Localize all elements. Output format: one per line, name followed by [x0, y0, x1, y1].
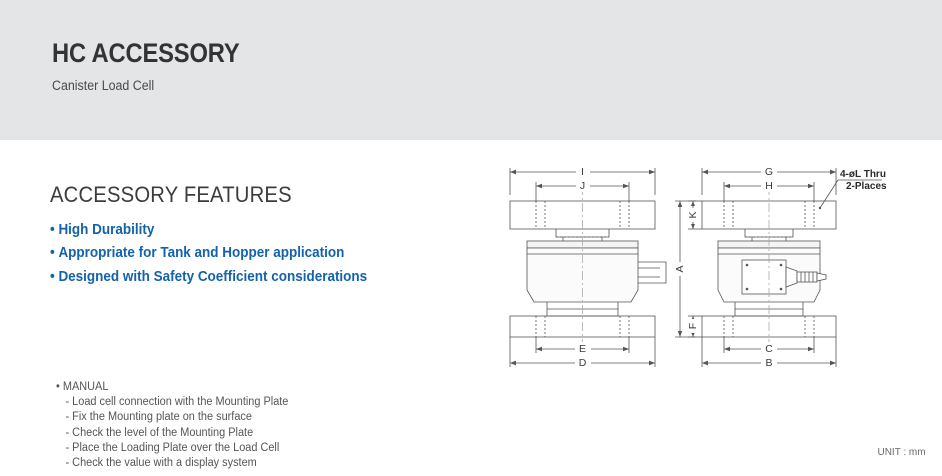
dim-label-A: A — [674, 265, 686, 272]
manual-step: - Check the level of the Mounting Plate — [56, 426, 288, 441]
technical-drawing: I J E D G H C B — [490, 150, 942, 476]
page-header: HC ACCESSORY Canister Load Cell — [0, 0, 942, 140]
dim-label-G: G — [765, 166, 773, 178]
dim-label-D: D — [579, 357, 587, 369]
drawing-canvas: I J E D G H C B — [490, 150, 942, 476]
feature-label: Designed with Safety Coefficient conside… — [58, 269, 367, 285]
callout-line-2: 2-Places — [846, 181, 887, 192]
manual-heading: • MANUAL — [56, 380, 288, 395]
manual-step: - Fix the Mounting plate on the surface — [56, 410, 288, 425]
manual-step: - Check the value with a display system — [56, 456, 288, 471]
feature-label: High Durability — [58, 222, 154, 238]
manual-step: - Place the Loading Plate over the Load … — [56, 441, 288, 456]
manual-section: • MANUAL - Load cell connection with the… — [56, 380, 301, 471]
side-view-geometry — [510, 168, 666, 367]
dim-label-I: I — [581, 166, 584, 178]
dim-label-K: K — [687, 211, 699, 218]
dim-label-H: H — [765, 180, 773, 192]
datasheet-page: HC ACCESSORY Canister Load Cell ACCESSOR… — [0, 0, 942, 476]
dim-label-F: F — [687, 323, 699, 329]
bullet-icon: • — [50, 245, 55, 261]
dim-label-J: J — [580, 180, 585, 192]
dim-label-C: C — [765, 343, 773, 355]
unit-label: UNIT : mm — [878, 446, 926, 458]
accessory-features-section: ACCESSORY FEATURES •High Durability •App… — [50, 182, 470, 289]
feature-label: Appropriate for Tank and Hopper applicat… — [58, 245, 344, 261]
bullet-icon: • — [50, 222, 55, 238]
dim-label-E: E — [579, 343, 586, 355]
manual-step: - Load cell connection with the Mounting… — [56, 395, 288, 410]
page-subtitle: Canister Load Cell — [52, 78, 154, 93]
features-heading: ACCESSORY FEATURES — [50, 182, 436, 208]
feature-list-item: •Appropriate for Tank and Hopper applica… — [50, 242, 441, 265]
front-view-geometry — [675, 168, 882, 367]
bullet-icon: • — [50, 269, 55, 285]
feature-list-item: •High Durability — [50, 219, 441, 242]
feature-list-item: •Designed with Safety Coefficient consid… — [50, 266, 441, 289]
callout-line-1: 4-øL Thru — [840, 169, 886, 180]
dim-label-B: B — [765, 357, 772, 369]
page-title: HC ACCESSORY — [52, 38, 240, 69]
